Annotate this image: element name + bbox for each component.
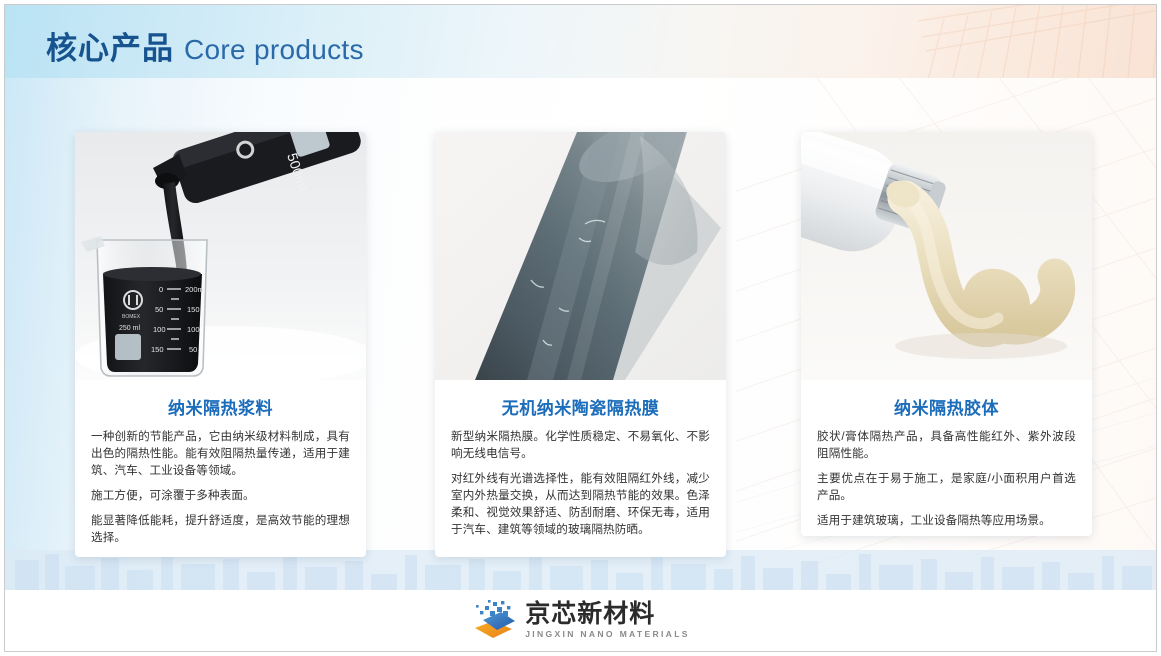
product-paragraph: 胶状/膏体隔热产品，具备高性能红外、紫外波段阻隔性能。 — [817, 428, 1076, 462]
svg-text:BOMEX: BOMEX — [122, 314, 141, 320]
columns-watermark-icon — [856, 5, 1156, 78]
svg-text:100: 100 — [153, 325, 166, 334]
nano-insulation-slurry-photo: 500ml — [75, 132, 366, 380]
product-title: 纳米隔热胶体 — [817, 394, 1076, 419]
page-title-cn: 核心产品 — [46, 23, 174, 68]
svg-text:0: 0 — [159, 285, 163, 294]
svg-text:50: 50 — [155, 305, 163, 314]
jingxin-logo-mark-icon — [471, 600, 516, 642]
svg-text:200ml: 200ml — [185, 285, 206, 294]
slide-header: 核心产品 Core products — [5, 5, 1156, 78]
product-card-list: 500ml — [5, 78, 1156, 592]
product-card[interactable]: 纳米隔热胶体 胶状/膏体隔热产品，具备高性能红外、紫外波段阻隔性能。 主要优点在… — [801, 132, 1092, 536]
product-card[interactable]: 无机纳米陶瓷隔热膜 新型纳米隔热膜。化学性质稳定、不易氧化、不影响无线电信号。 … — [435, 132, 726, 557]
product-paragraph: 主要优点在于易于施工，是家庭/小面积用户首选产品。 — [817, 470, 1076, 504]
svg-text:100: 100 — [187, 325, 200, 334]
slide-footer: 京芯新材料 JINGXIN NANO MATERIALS — [5, 590, 1156, 651]
page-title-en: Core products — [184, 34, 364, 66]
product-title: 无机纳米陶瓷隔热膜 — [451, 394, 710, 419]
product-title: 纳米隔热浆料 — [91, 394, 350, 419]
logo-text: 京芯新材料 JINGXIN NANO MATERIALS — [525, 602, 690, 639]
product-card-body: 纳米隔热胶体 胶状/膏体隔热产品，具备高性能红外、紫外波段阻隔性能。 主要优点在… — [801, 380, 1092, 536]
product-card-body: 纳米隔热浆料 一种创新的节能产品，它由纳米级材料制成，具有出色的隔热性能。能有效… — [75, 380, 366, 557]
product-paragraph: 施工方便，可涂覆于多种表面。 — [91, 487, 350, 504]
svg-text:50: 50 — [189, 345, 197, 354]
nano-ceramic-insulation-film-photo — [435, 132, 726, 380]
slide: 核心产品 Core products — [0, 0, 1161, 656]
slide-content: 500ml — [5, 78, 1156, 592]
product-paragraph: 对红外线有光谱选择性，能有效阻隔红外线，减少室内外热量交换，从而达到隔热节能的效… — [451, 470, 710, 538]
product-paragraph: 适用于建筑玻璃，工业设备隔热等应用场景。 — [817, 512, 1076, 529]
product-paragraph: 一种创新的节能产品，它由纳米级材料制成，具有出色的隔热性能。能有效阻隔热量传递，… — [91, 428, 350, 479]
product-paragraph: 新型纳米隔热膜。化学性质稳定、不易氧化、不影响无线电信号。 — [451, 428, 710, 462]
page-title: 核心产品 Core products — [46, 23, 364, 68]
svg-text:250 ml: 250 ml — [119, 325, 140, 332]
product-paragraph: 能显著降低能耗，提升舒适度，是高效节能的理想选择。 — [91, 512, 350, 546]
logo-name-cn: 京芯新材料 — [525, 602, 690, 627]
svg-text:150: 150 — [187, 305, 200, 314]
svg-text:150: 150 — [151, 345, 164, 354]
slide-frame: 核心产品 Core products — [4, 4, 1157, 652]
company-logo[interactable]: 京芯新材料 JINGXIN NANO MATERIALS — [471, 600, 690, 642]
product-card[interactable]: 500ml — [75, 132, 366, 557]
nano-insulation-colloid-photo — [801, 132, 1092, 380]
product-card-body: 无机纳米陶瓷隔热膜 新型纳米隔热膜。化学性质稳定、不易氧化、不影响无线电信号。 … — [435, 380, 726, 557]
logo-name-en: JINGXIN NANO MATERIALS — [525, 630, 690, 639]
